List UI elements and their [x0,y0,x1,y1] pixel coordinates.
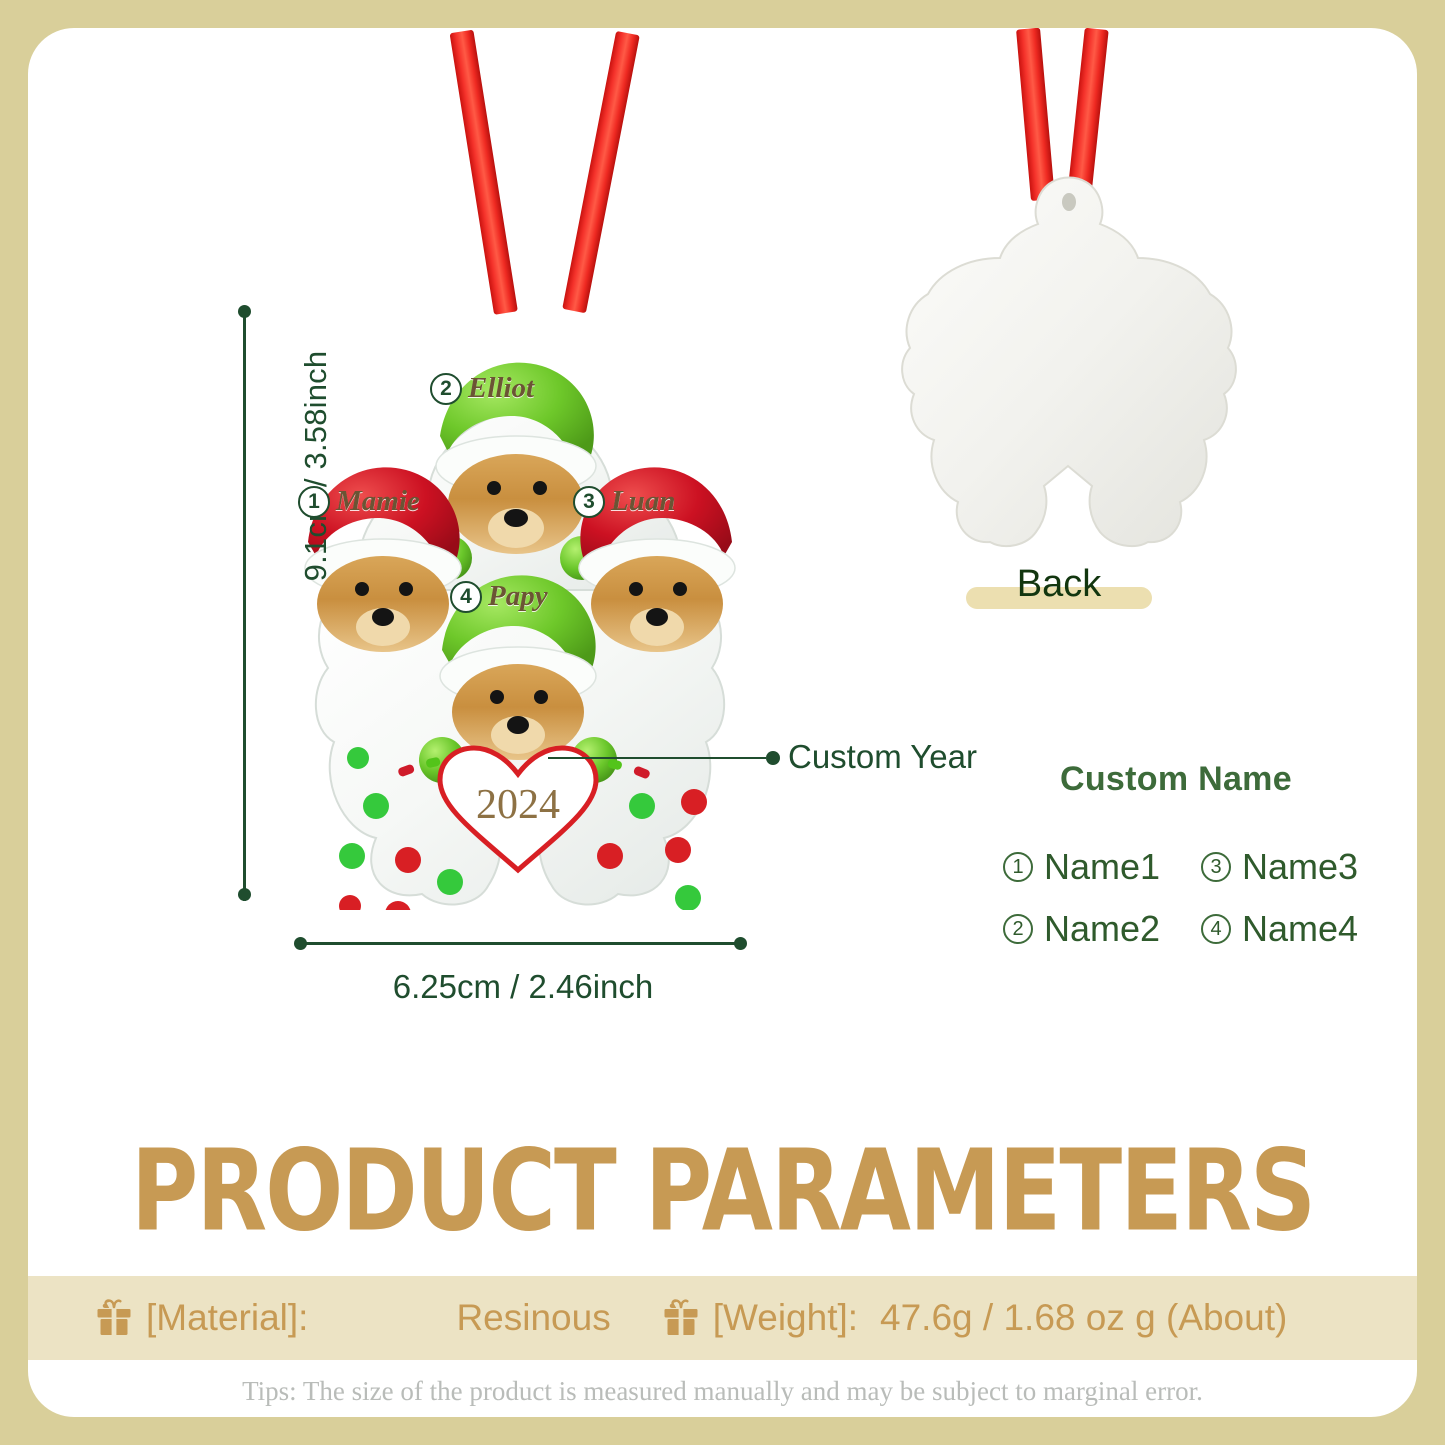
material-value: Resinous [456,1297,610,1339]
width-dimension-label: 6.25cm / 2.46inch [278,968,768,1006]
custom-name-number-1: 1 [1003,852,1033,882]
custom-name-item-2: 2 Name2 [1003,908,1163,950]
parameters-bar: [Material]: Resinous [Weight]: 47.6g / 1… [28,1276,1417,1360]
ornament-front-image: 2024 1 Mamie 2 Elliot 3 Luan 4 Papy [290,290,750,910]
height-dimension-dot-bottom [238,888,251,901]
bear-badge-2: 2 Elliot [430,372,534,405]
custom-year-leader-line [548,757,766,759]
custom-name-label-3: Name3 [1242,846,1358,888]
ribbon-strand-left [450,30,518,315]
back-label: Back [966,563,1152,606]
width-dimension-dot-left [294,937,307,950]
gift-icon [94,1298,134,1338]
custom-name-list: 1 Name1 3 Name3 2 Name2 4 Name4 [1003,846,1363,950]
height-dimension-line [243,311,246,901]
bear-badge-number-2: 2 [430,373,462,405]
material-parameter: [Material]: Resinous [28,1276,611,1360]
bear-badge-3: 3 Luan [573,485,675,518]
custom-year-label: Custom Year [788,738,977,776]
bear-badge-name-4: Papy [488,580,548,613]
custom-name-item-1: 1 Name1 [1003,846,1163,888]
year-engraving: 2024 [476,782,560,828]
bear-badge-name-2: Elliot [468,372,534,405]
custom-name-number-2: 2 [1003,914,1033,944]
bear-badge-number-4: 4 [450,581,482,613]
weight-key: [Weight]: [713,1297,858,1339]
custom-name-number-4: 4 [1201,914,1231,944]
custom-name-label-2: Name2 [1044,908,1160,950]
bear-badge-number-3: 3 [573,486,605,518]
custom-name-label-4: Name4 [1242,908,1358,950]
custom-year-leader-dot [766,751,780,765]
ribbon-strand-right [562,31,640,313]
content-panel: 2024 1 Mamie 2 Elliot 3 Luan 4 Papy [28,28,1417,1417]
product-parameters-title: PRODUCT PARAMETERS [28,1126,1417,1257]
width-dimension-dot-right [734,937,747,950]
bear-badge-1: 1 Mamie [298,485,420,518]
custom-name-title: Custom Name [1060,760,1292,799]
custom-name-label-1: Name1 [1044,846,1160,888]
back-ribbon-strand-right [1067,28,1109,199]
front-ribbon [458,28,638,318]
custom-name-item-3: 3 Name3 [1201,846,1361,888]
bear-badge-name-1: Mamie [336,485,420,518]
custom-name-number-3: 3 [1201,852,1231,882]
custom-name-item-4: 4 Name4 [1201,908,1361,950]
bear-badge-4: 4 Papy [450,580,548,613]
product-listing-page: 2024 1 Mamie 2 Elliot 3 Luan 4 Papy [0,0,1445,1445]
bear-badge-name-3: Luan [611,485,675,518]
width-dimension-line [300,942,740,945]
material-key: [Material]: [146,1297,308,1339]
bear-badge-number-1: 1 [298,486,330,518]
tips-text: Tips: The size of the product is measure… [28,1376,1417,1407]
ornament-back-svg [896,176,1241,548]
weight-parameter: [Weight]: 47.6g / 1.68 oz g (About) [611,1276,1288,1360]
ornament-back-image [896,176,1241,548]
gift-icon [661,1298,701,1338]
weight-value: 47.6g / 1.68 oz g (About) [880,1297,1287,1339]
back-label-text: Back [1017,563,1101,605]
height-dimension-dot-top [238,305,251,318]
height-dimension-label: 9.1cm / 3.58inch [298,306,334,626]
